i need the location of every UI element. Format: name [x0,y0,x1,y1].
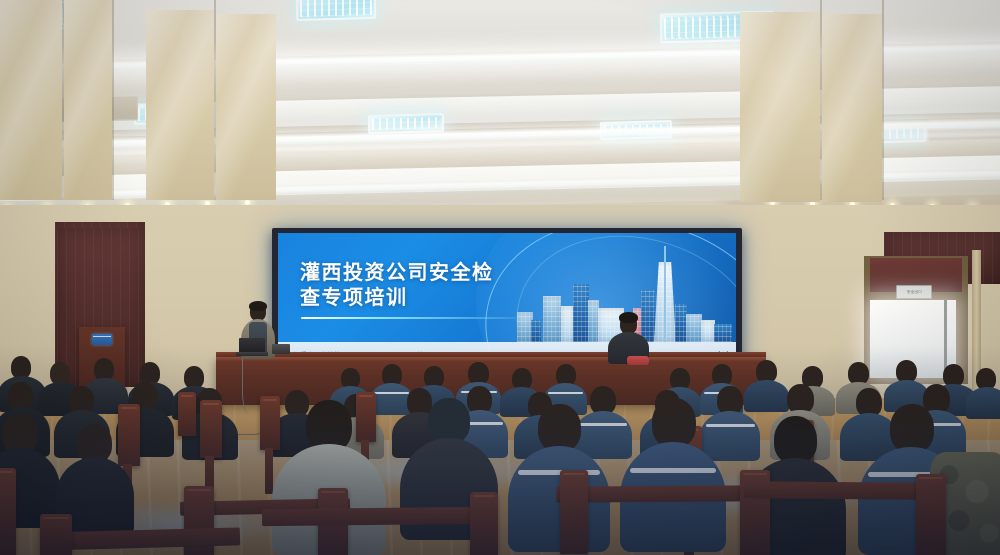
skyline-building [686,314,702,342]
chair-back [40,514,72,555]
audience-head [652,398,696,448]
wall-marble-mid [146,10,214,200]
power-cable [242,358,259,414]
uniform-stripe [630,468,716,473]
wall-marble-right2 [822,14,882,202]
table-object-box [272,344,290,354]
exit-sign-label: 安全出口 [906,289,921,294]
audience-member [508,404,608,548]
laptop-screen [239,338,265,353]
wall-marble-left2 [64,0,112,200]
skyline-spire [664,246,666,342]
chair-back-rail [262,507,478,526]
audience-member [966,368,1000,416]
wall-seam [882,0,884,200]
chair-back [178,392,196,436]
laptop-base [236,352,268,356]
chair-back [560,470,588,554]
presenter-hair [249,301,267,311]
chair-back [916,474,946,555]
table-item-red [627,356,649,365]
wall-marble-left [0,0,62,200]
exit-sign: 安全出口 [896,285,932,299]
audience-head [890,404,934,453]
slide-title: 灌西投资公司安全检 查专项培训 [300,261,550,311]
wall-marble-mid2 [216,14,276,200]
skyline-building [531,320,541,342]
audience-torso [966,387,1000,419]
chair-back [200,400,222,458]
wall-marble-right [740,12,820,202]
slide-title-line1: 灌西投资公司安全检 [300,261,550,286]
chair-back [0,468,16,555]
conference-room-photo: 安全出口 灌西投资公司安全检 查专 [0,0,1000,555]
audience-member [620,398,724,548]
audience-member [56,424,132,528]
seated-official [608,312,648,360]
slide-title-underline [301,317,516,319]
presentation-screen[interactable]: 灌西投资公司安全检 查专项培训 汇报人：李某某 时间：2023.10 [278,233,736,364]
audience-head [538,404,581,452]
lectern-logo [92,334,112,345]
wall-seam [112,0,114,200]
audience-head [774,416,817,464]
skyline-building [701,320,715,342]
chair-back-rail [744,481,934,500]
chair-back [470,492,498,555]
slide-title-line2: 查专项培训 [300,286,550,311]
official-hair [619,312,638,323]
ceiling-troffer-light [296,0,377,21]
skyline-building [714,324,732,342]
skyline-building [573,284,589,342]
